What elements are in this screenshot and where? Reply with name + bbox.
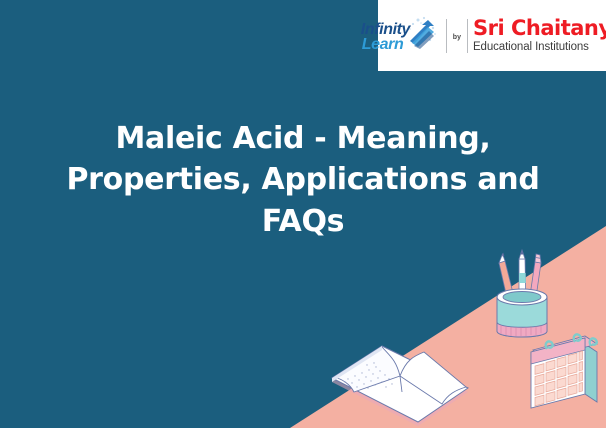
logo-lockup: Infinity Learn xyxy=(361,14,606,58)
partner-subtitle: Educational Institutions xyxy=(473,42,606,54)
desk-calendar-illustration xyxy=(523,330,603,426)
logo-connector-label: by xyxy=(452,34,462,41)
infinity-learn-line1: Infinity xyxy=(361,22,410,37)
open-book-illustration xyxy=(330,330,470,428)
sri-chaitanya-logo: Sri Chaitanya Educational Institutions xyxy=(473,18,606,54)
logo-divider-2 xyxy=(467,19,468,53)
partner-name: Sri Chaitanya xyxy=(473,18,606,39)
logo-divider xyxy=(446,19,447,53)
infinity-learn-line2: Learn xyxy=(362,37,404,52)
page-title: Maleic Acid - Meaning, Properties, Appli… xyxy=(28,118,578,242)
infinity-learn-logo: Infinity Learn xyxy=(361,14,441,58)
logo-panel: Infinity Learn xyxy=(378,0,606,71)
banner: Infinity Learn xyxy=(0,0,606,428)
arrow-swoosh-icon xyxy=(404,16,440,52)
